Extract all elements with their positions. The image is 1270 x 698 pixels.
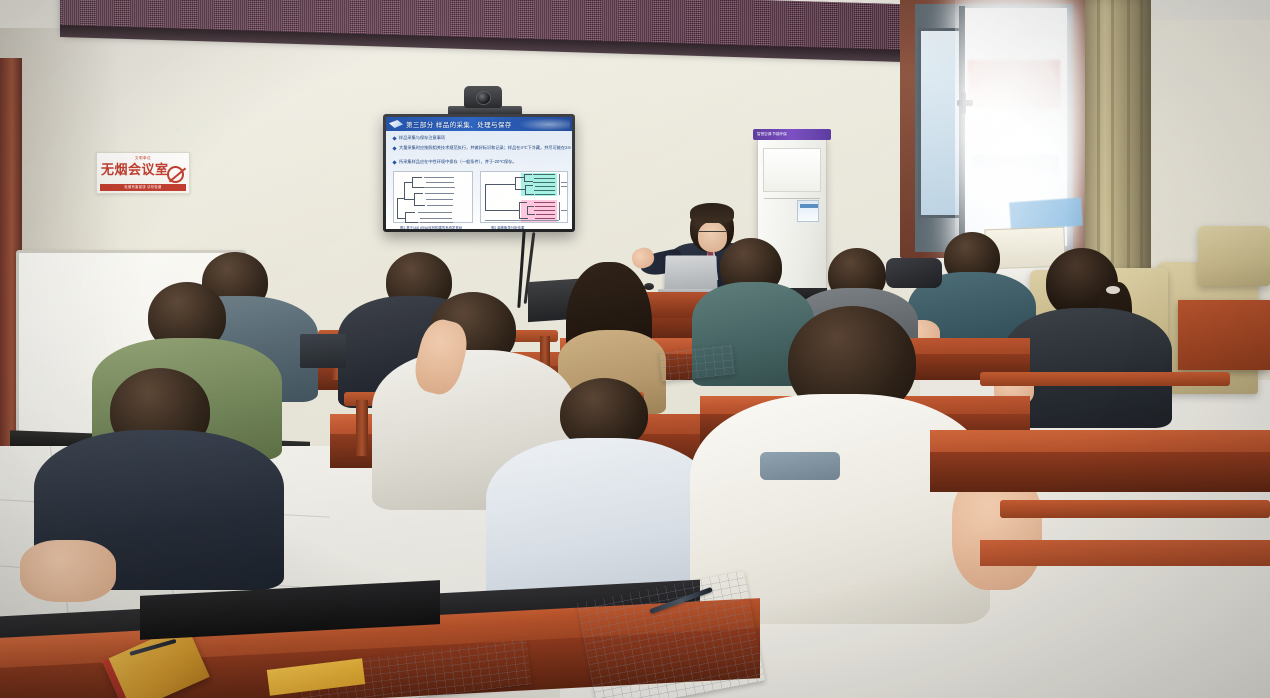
- slide-chart-right: [480, 171, 568, 223]
- presenter-hair: [690, 203, 734, 223]
- bench-leg: [356, 400, 368, 456]
- bench-rail: [980, 372, 1230, 386]
- sign-footer-text: 吸烟有害健康 请勿吸烟: [100, 184, 186, 191]
- wall-television[interactable]: 第三部分 样品的采集、处理与保存 样品采集与保存注意事项 大量采集时应按照相关技…: [383, 114, 575, 232]
- hair-tie-icon: [1106, 286, 1120, 294]
- bench-rail: [1000, 500, 1270, 518]
- side-table: [1178, 300, 1270, 370]
- window-handle-stem[interactable]: [961, 92, 966, 114]
- sign-small-text: 文明单位: [101, 156, 185, 161]
- attendee-laptop[interactable]: [300, 334, 346, 368]
- armchair[interactable]: [1198, 226, 1270, 286]
- windowsill-clutter-bag: [1009, 198, 1083, 231]
- camera-lens-icon: [476, 91, 491, 105]
- slide-chart-left: [393, 171, 473, 223]
- slide-bullet-1: 样品采集与保存注意事项: [399, 135, 445, 141]
- presenter-face: [698, 222, 727, 252]
- window-sash-openable[interactable]: [918, 28, 962, 218]
- window-mullion: [959, 6, 965, 250]
- air-conditioner-front-panel: [763, 148, 821, 192]
- right-desk-lower: [980, 540, 1270, 566]
- outside-view-distant: [972, 155, 1058, 177]
- no-smoking-sign: 文明单位 无烟会议室 吸烟有害健康 请勿吸烟: [96, 152, 190, 194]
- tv-screen: 第三部分 样品的采集、处理与保存 样品采集与保存注意事项 大量采集时应按照相关技…: [386, 117, 572, 229]
- slide-title: 第三部分 样品的采集、处理与保存: [406, 119, 512, 129]
- slide-bullet-2: 大量采集时应按照相关技术规范执行，并做好标识和记录；样品在4℃下冷藏，并尽可能在…: [399, 145, 571, 151]
- air-conditioner-banner: 智慧空调 节能环保: [753, 129, 831, 140]
- slide-bullet-3: 所采集样品应在中性环境中保存（一般条件），并于-20℃保存。: [399, 159, 571, 165]
- no-smoking-icon: [167, 166, 184, 183]
- meeting-room-scene: 文明单位 无烟会议室 吸烟有害健康 请勿吸烟 第三部分 样品的采集、处理与保存 …: [0, 0, 1270, 698]
- air-conditioner-display[interactable]: [797, 200, 819, 222]
- outside-view-building: [968, 60, 1060, 108]
- presenter-laptop-screen[interactable]: [664, 256, 717, 292]
- slide-chart-left-caption: 图1 基于16S rRNA序列构建的系统发育树: [400, 225, 462, 229]
- slide-chart-right-caption: 图2 菌株聚类分析结果: [491, 225, 524, 229]
- attendee-arm: [20, 540, 116, 602]
- presenter-glasses: [699, 231, 726, 235]
- slide-header-swoosh: [518, 118, 570, 131]
- attendee-collar: [760, 452, 840, 480]
- right-desk-front: [930, 452, 1270, 492]
- sign-footer-bar: 吸烟有害健康 请勿吸烟: [100, 184, 186, 191]
- bag: [886, 258, 942, 288]
